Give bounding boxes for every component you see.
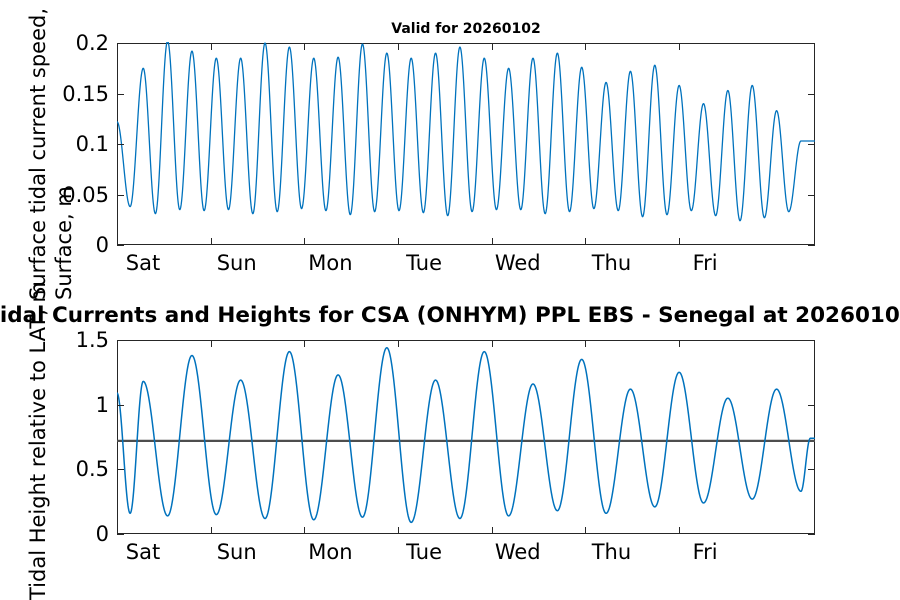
xtick-mark <box>585 527 586 534</box>
xtick-mark <box>398 527 399 534</box>
xtick-mark <box>117 340 118 347</box>
ytick-label: 1 <box>51 393 109 417</box>
xtick-label: Thu <box>592 540 631 564</box>
bottom-chart-curve <box>0 0 900 600</box>
ytick-label: 1.5 <box>51 328 109 352</box>
xtick-mark <box>117 527 118 534</box>
xtick-label: Mon <box>308 540 352 564</box>
ytick-mark <box>117 469 124 470</box>
xtick-mark <box>492 527 493 534</box>
xtick-label: Sat <box>126 540 160 564</box>
xtick-label: Sun <box>217 540 257 564</box>
xtick-label: Fri <box>693 540 718 564</box>
xtick-label: Wed <box>495 540 541 564</box>
xtick-mark <box>679 527 680 534</box>
xtick-mark <box>211 340 212 347</box>
ytick-mark <box>808 405 815 406</box>
ytick-mark <box>808 340 815 341</box>
ytick-mark <box>117 405 124 406</box>
tidal-figure: Surface tidal current speed, kn Surface,… <box>0 0 900 600</box>
ytick-mark <box>117 340 124 341</box>
ytick-label: 0 <box>51 522 109 546</box>
xtick-mark <box>492 340 493 347</box>
xtick-mark <box>304 340 305 347</box>
ytick-mark <box>117 534 124 535</box>
xtick-mark <box>304 527 305 534</box>
xtick-label: Tue <box>406 540 442 564</box>
ytick-mark <box>808 534 815 535</box>
xtick-mark <box>398 340 399 347</box>
ytick-mark <box>808 469 815 470</box>
xtick-mark <box>585 340 586 347</box>
ytick-label: 0.5 <box>51 457 109 481</box>
xtick-mark <box>679 340 680 347</box>
xtick-mark <box>211 527 212 534</box>
